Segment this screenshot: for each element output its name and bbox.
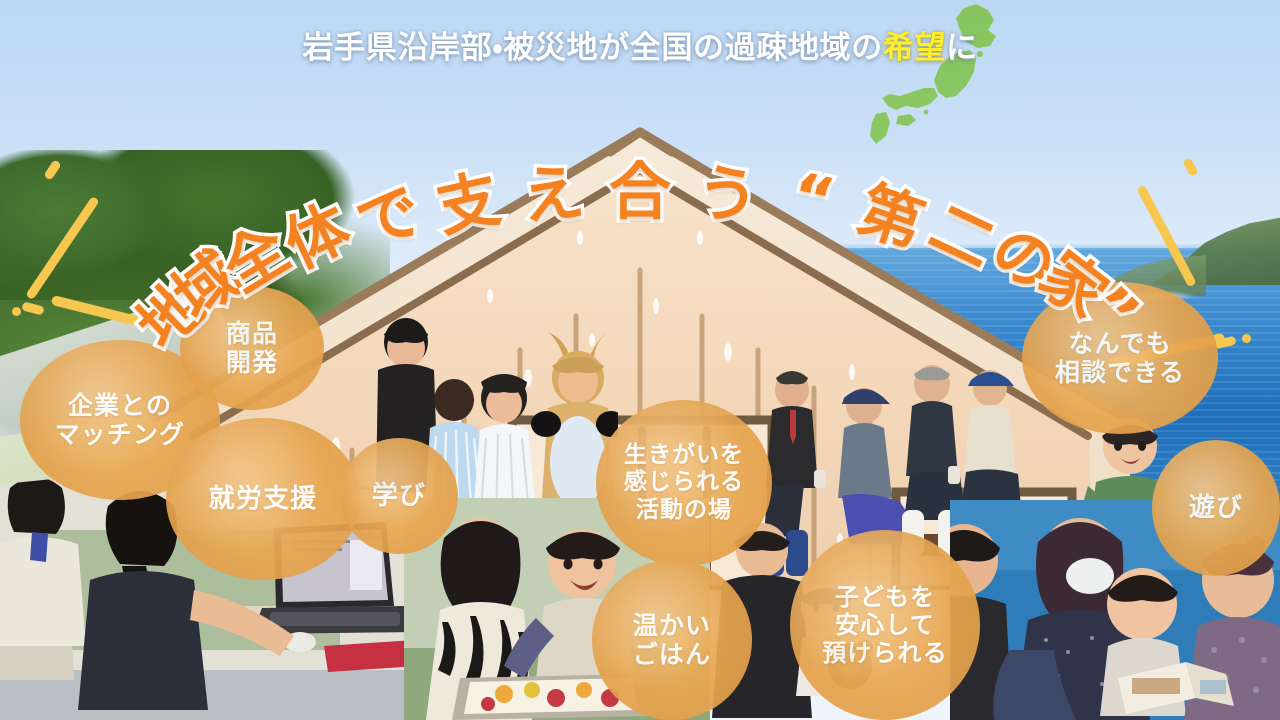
bubble-warm-meal[interactable]: 温かい ごはん bbox=[592, 560, 752, 720]
diagonal-accent-strokes-right bbox=[1090, 120, 1280, 300]
bubble-consult-line2: 相談できる bbox=[1055, 358, 1185, 388]
page-subtitle: 岩手県沿岸部・被災地が全国の過疎地域の希望に bbox=[0, 22, 1280, 67]
bubble-childcare-line1: 子どもを bbox=[835, 583, 935, 611]
bubble-learning-line1: 学び bbox=[372, 481, 426, 512]
subtitle-prefix: 岩手県沿岸部・被災地が全国の過疎地域の bbox=[302, 30, 882, 66]
bubble-employment-line1: 就労支援 bbox=[209, 484, 318, 515]
bubble-consult-line1: なんでも bbox=[1068, 329, 1171, 359]
bubble-childcare[interactable]: 子どもを 安心して 預けられる bbox=[790, 530, 980, 720]
bubble-childcare-line2: 安心して bbox=[835, 611, 935, 639]
bubble-product-line1: 商品 bbox=[226, 319, 278, 349]
bubble-sense-of-purpose[interactable]: 生きがいを 感じられる 活動の場 bbox=[596, 400, 772, 566]
bubble-play-line1: 遊び bbox=[1189, 493, 1243, 524]
bubble-consultation[interactable]: なんでも 相談できる bbox=[1022, 282, 1218, 434]
bubble-product-development[interactable]: 商品 開発 bbox=[180, 286, 324, 410]
bubble-product-line2: 開発 bbox=[226, 348, 278, 378]
bubble-employment-support[interactable]: 就労支援 bbox=[166, 418, 360, 580]
bubble-matching-line1: 企業との bbox=[68, 391, 172, 421]
diagonal-accent-strokes-left bbox=[0, 120, 220, 300]
bubble-matching-line2: マッチング bbox=[55, 420, 186, 450]
bubble-warm-meal-line1: 温かい bbox=[633, 611, 711, 641]
subtitle-highlight: 希望 bbox=[883, 30, 946, 66]
bubble-purpose-line2: 感じられる bbox=[624, 469, 744, 496]
poster-canvas: 企業との マッチング 商品 開発 就労支援 学び 生きがいを 感じられる 活動の… bbox=[0, 0, 1280, 720]
bubble-play[interactable]: 遊び bbox=[1152, 440, 1280, 576]
bubble-purpose-line1: 生きがいを bbox=[624, 442, 744, 469]
bubble-purpose-line3: 活動の場 bbox=[636, 497, 732, 524]
bubble-learning[interactable]: 学び bbox=[340, 438, 458, 554]
bubble-warm-meal-line2: ごはん bbox=[633, 640, 711, 670]
bubble-childcare-line3: 預けられる bbox=[822, 639, 947, 667]
subtitle-suffix: に bbox=[946, 30, 978, 66]
